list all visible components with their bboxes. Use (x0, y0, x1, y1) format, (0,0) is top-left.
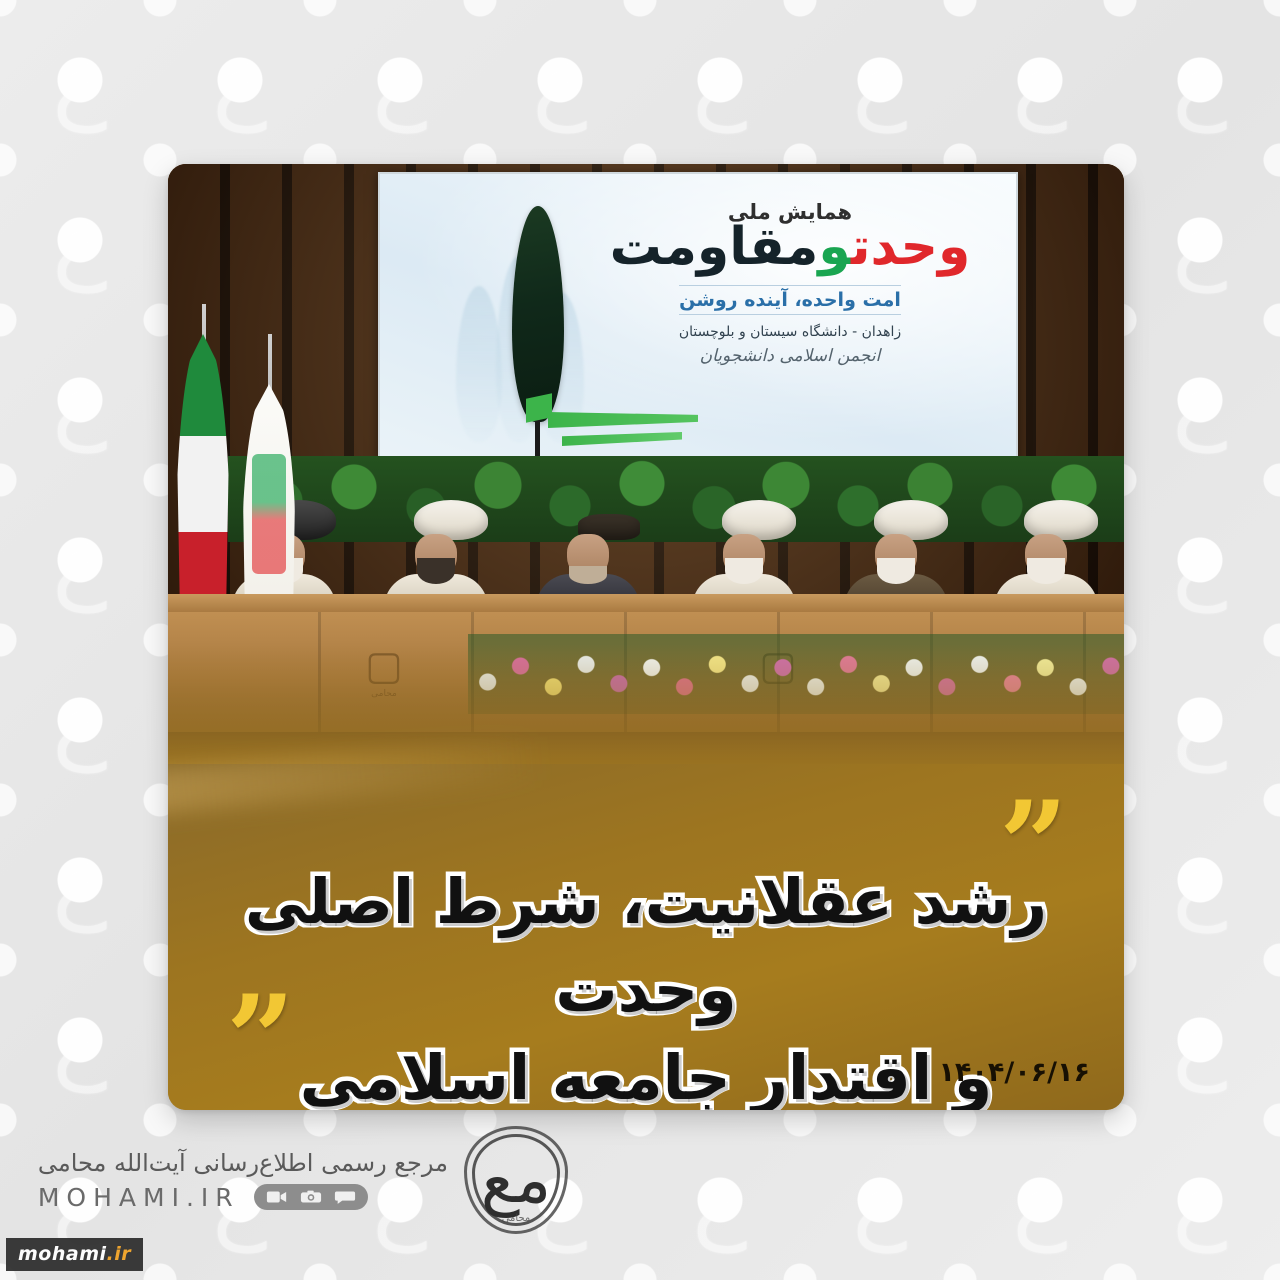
watermark-glyph: ع (960, 0, 1120, 160)
face-shape (723, 534, 765, 578)
watermark-glyph: ع (800, 1120, 960, 1280)
brand-persian-title: مرجع رسمی اطلاع‌رسانی آیت‌الله محامی (38, 1149, 448, 1177)
watermark-glyph: ع (1120, 0, 1280, 160)
watermark-glyph: ع (640, 0, 800, 160)
watermark-glyph: ع (0, 640, 160, 800)
quote-block: ” رشد عقلانیت، شرط اصلی وحدت و اقتدار جا… (168, 764, 1124, 1110)
watermark-glyph: ع (1120, 1120, 1280, 1280)
brand-site-row: MOHAMI.IR (38, 1183, 448, 1212)
watermark-glyph: ع (1120, 320, 1280, 480)
screen-title: وحدتومقاومت (590, 220, 990, 275)
watermark-glyph: ع (0, 960, 160, 1120)
news-card[interactable]: همایش ملی وحدتومقاومت امت واحده، آینده ر… (168, 164, 1124, 1110)
watermark-glyph: ع (640, 1120, 800, 1280)
camera-icon[interactable] (300, 1189, 322, 1205)
face-shape (1025, 534, 1067, 578)
watermark-glyph: ع (1120, 640, 1280, 800)
panel-desk-top (168, 594, 1124, 612)
face-shape (567, 534, 609, 578)
watermark-glyph: ع (1120, 800, 1280, 960)
screen-venue: زاهدان - دانشگاه سیستان و بلوچستان (590, 324, 990, 340)
watermark-glyph: ع (1120, 480, 1280, 640)
video-icon[interactable] (266, 1189, 288, 1205)
watermark-glyph: ع (1120, 960, 1280, 1120)
watermark-glyph: ع (320, 0, 480, 160)
beard-shape (1027, 558, 1065, 584)
brand-footer: مع محامی مرجع رسمی اطلاع‌رسانی آیت‌الله … (48, 1124, 568, 1236)
watermark-glyph: ع (960, 1120, 1120, 1280)
brand-site-name[interactable]: MOHAMI.IR (38, 1183, 240, 1212)
watermark-glyph: ع (0, 800, 160, 960)
face-shape (415, 534, 457, 578)
screen-signature: انجمن اسلامی دانشجویان (590, 346, 990, 366)
turban-icon (722, 500, 796, 540)
publish-date: ۱۴۰۴/۰۶/۱۶ (938, 1057, 1090, 1088)
logo-caption: محامی (464, 1213, 568, 1224)
turban-icon (414, 500, 488, 540)
turban-icon (1024, 500, 1098, 540)
watermark-name: mohami (18, 1243, 107, 1265)
screen-title-word-3: مقاومت (610, 217, 819, 277)
turban-icon (874, 500, 948, 540)
watermark-tld: .ir (107, 1243, 132, 1265)
screen-text-block: همایش ملی وحدتومقاومت امت واحده، آینده ر… (590, 200, 990, 366)
beard-shape (877, 558, 915, 584)
screen-title-word-2: و (818, 217, 851, 277)
headline-line-1: رشد عقلانیت، شرط اصلی وحدت (245, 865, 1047, 1026)
watermark-glyph: ع (0, 320, 160, 480)
projection-screen: همایش ملی وحدتومقاومت امت واحده، آینده ر… (378, 172, 1018, 460)
watermark-glyph: ع (0, 160, 160, 320)
chat-icon[interactable] (334, 1189, 356, 1205)
watermark-glyph: ع (480, 0, 640, 160)
watermark-glyph: ع (800, 0, 960, 160)
beard-shape (569, 566, 607, 584)
watermark-glyph: ع (1120, 160, 1280, 320)
beard-shape (417, 558, 455, 584)
social-links-pill[interactable] (254, 1184, 368, 1210)
screen-title-word-1: وحدت (851, 217, 970, 277)
face-shape (875, 534, 917, 578)
brand-text-block: مرجع رسمی اطلاع‌رسانی آیت‌الله محامی MOH… (38, 1149, 448, 1212)
conference-panel-photo: همایش ملی وحدتومقاومت امت واحده، آینده ر… (168, 164, 1124, 784)
watermark-glyph: ع (0, 480, 160, 640)
watermark-glyph: ع (160, 0, 320, 160)
quote-mark-close-icon: ” (226, 1004, 295, 1076)
beard-shape (725, 558, 763, 584)
corner-watermark: mohami.ir (6, 1238, 143, 1271)
mohami-logo-icon[interactable]: مع محامی (464, 1126, 568, 1234)
screen-subtitle: امت واحده، آینده روشن (679, 285, 901, 315)
watermark-glyph: ع (0, 0, 160, 160)
